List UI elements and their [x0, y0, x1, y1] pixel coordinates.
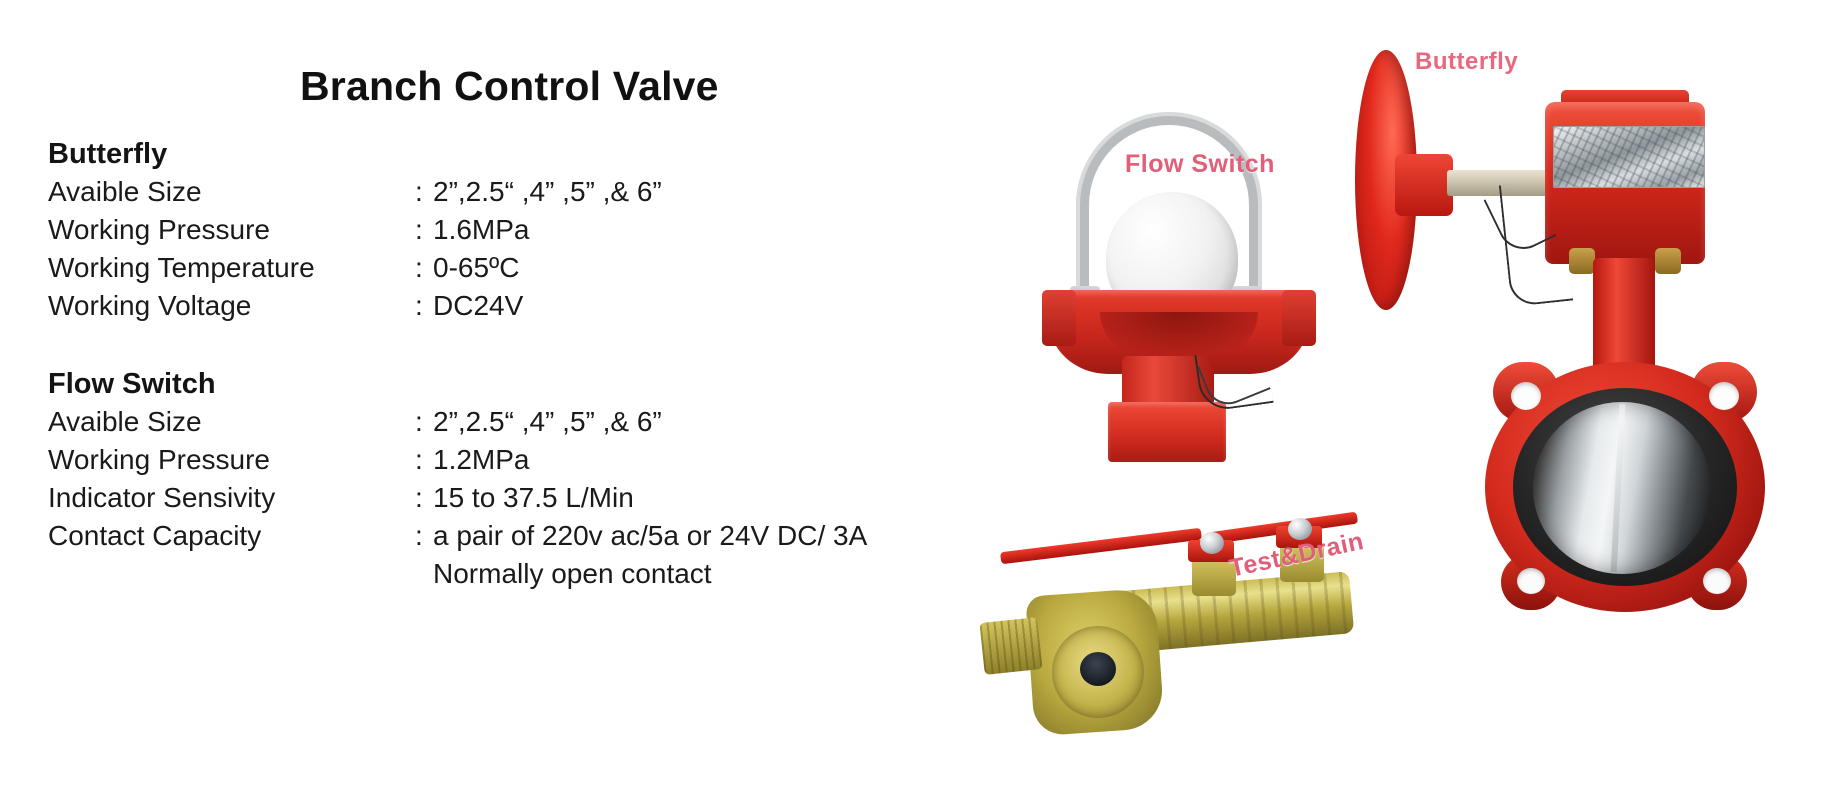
spec-separator: : — [415, 211, 433, 249]
spec-row: Working Temperature : 0-65ºC — [48, 249, 988, 287]
butterfly-nameplate — [1553, 126, 1705, 188]
test-drain-stem-nut-left — [1200, 532, 1224, 554]
spec-separator: : — [415, 287, 433, 325]
spec-row: Avaible Size : 2”,2.5“ ,4” ,5” ,& 6” — [48, 403, 988, 441]
section-heading-butterfly: Butterfly — [48, 136, 988, 172]
test-drain-male-thread — [979, 617, 1042, 675]
spec-separator: : — [415, 249, 433, 287]
section-heading-flow-switch: Flow Switch — [48, 366, 988, 402]
photo-label-flow-switch: Flow Switch — [1125, 150, 1275, 179]
spec-value: DC24V — [433, 287, 523, 325]
spec-value: 2”,2.5“ ,4” ,5” ,& 6” — [433, 173, 662, 211]
test-drain-stem-nut-right — [1288, 518, 1312, 540]
flow-switch-flange-right — [1282, 290, 1316, 346]
flow-switch-flange-left — [1042, 290, 1076, 346]
spec-separator: : — [415, 403, 433, 441]
butterfly-neck-bolt-right — [1655, 248, 1681, 274]
spec-label: Working Pressure — [48, 211, 415, 249]
spec-row: Working Voltage : DC24V — [48, 287, 988, 325]
page-title: Branch Control Valve — [300, 63, 719, 110]
butterfly-lug-hole-top-left — [1511, 382, 1541, 410]
spec-label: Avaible Size — [48, 173, 415, 211]
test-drain-handle-left — [1000, 528, 1202, 565]
page-root: Branch Control Valve Butterfly Avaible S… — [0, 0, 1843, 800]
butterfly-lug-hole-bottom-left — [1517, 568, 1545, 594]
spec-separator: : — [415, 173, 433, 211]
spec-row: Working Pressure : 1.2MPa — [48, 441, 988, 479]
spec-value-continuation: Normally open contact — [433, 555, 988, 593]
spec-label: Working Temperature — [48, 249, 415, 287]
spec-row: Indicator Sensivity : 15 to 37.5 L/Min — [48, 479, 988, 517]
spec-value: 1.2MPa — [433, 441, 530, 479]
spec-row: Avaible Size : 2”,2.5“ ,4” ,5” ,& 6” — [48, 173, 988, 211]
product-photos-panel: Flow Switch Butterf — [940, 0, 1843, 800]
spec-label: Avaible Size — [48, 403, 415, 441]
spec-row: Contact Capacity : a pair of 220v ac/5a … — [48, 517, 988, 555]
photo-label-butterfly: Butterfly — [1415, 48, 1518, 76]
butterfly-valve-photo — [1355, 42, 1825, 612]
butterfly-neck-bolt-left — [1569, 248, 1595, 274]
spec-value: 2”,2.5“ ,4” ,5” ,& 6” — [433, 403, 662, 441]
flow-switch-enclosure — [1108, 402, 1226, 462]
spec-value: 0-65ºC — [433, 249, 520, 287]
spec-value: 15 to 37.5 L/Min — [433, 479, 634, 517]
spec-section-butterfly: Butterfly Avaible Size : 2”,2.5“ ,4” ,5”… — [48, 136, 988, 325]
butterfly-lug-hole-bottom-right — [1703, 568, 1731, 594]
spec-value: a pair of 220v ac/5a or 24V DC/ 3A — [433, 517, 867, 555]
spec-section-flow-switch: Flow Switch Avaible Size : 2”,2.5“ ,4” ,… — [48, 366, 988, 593]
butterfly-handwheel-hub — [1395, 154, 1453, 216]
test-drain-outlet-port — [1080, 652, 1116, 686]
specifications-panel: Branch Control Valve Butterfly Avaible S… — [0, 0, 1000, 800]
spec-separator: : — [415, 441, 433, 479]
spec-label: Working Pressure — [48, 441, 415, 479]
spec-value: 1.6MPa — [433, 211, 530, 249]
spec-row: Working Pressure : 1.6MPa — [48, 211, 988, 249]
butterfly-lug-hole-top-right — [1709, 382, 1739, 410]
spec-label: Working Voltage — [48, 287, 415, 325]
spec-label: Indicator Sensivity — [48, 479, 415, 517]
spec-label: Contact Capacity — [48, 517, 415, 555]
spec-separator: : — [415, 479, 433, 517]
spec-separator: : — [415, 517, 433, 555]
